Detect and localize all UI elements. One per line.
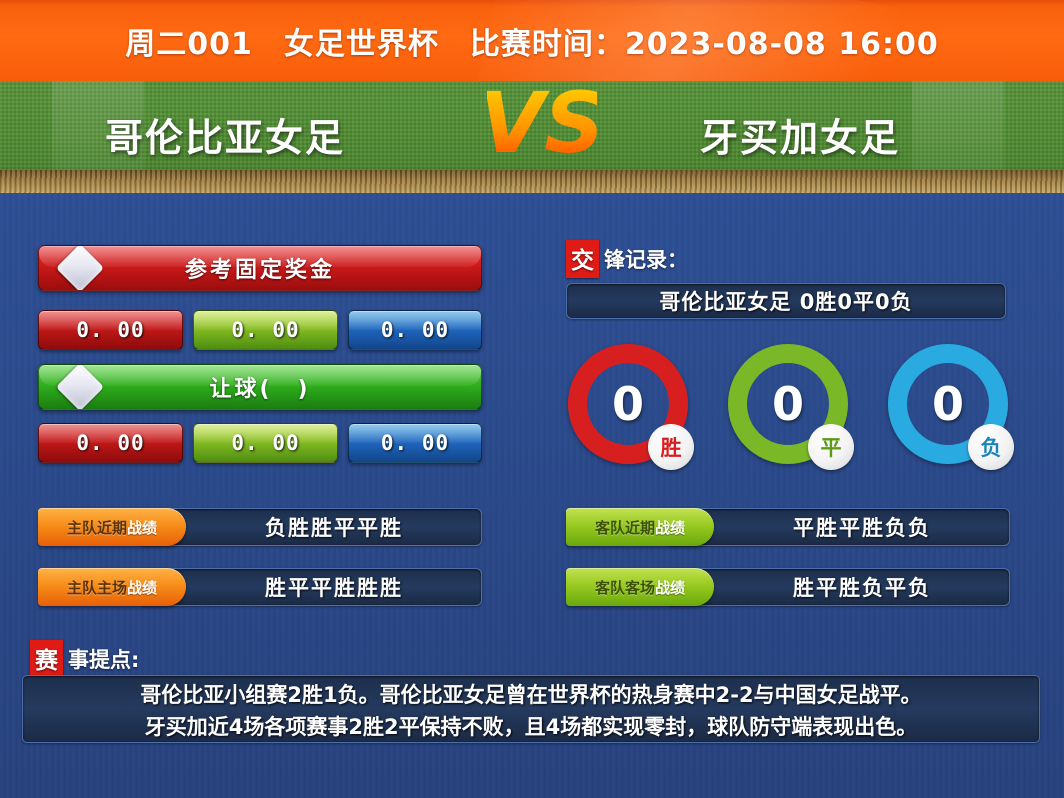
fixed-odds-home-button[interactable]: 0. 00 (38, 310, 183, 350)
handicap-odds-draw-value: 0. 00 (231, 431, 299, 455)
handicap-title: 让球( ) (209, 371, 310, 403)
away-venue-tag-dark: 客队客场 (595, 577, 655, 598)
away-venue-form-tag: 客队客场 战绩 (566, 568, 714, 606)
home-venue-form-tag: 主队主场 战绩 (38, 568, 186, 606)
home-recent-tag-dark: 主队近期 (67, 517, 127, 538)
h2h-heading-text: 锋记录： (604, 244, 688, 274)
match-tips-line-1: 哥伦比亚小组赛2胜1负。哥伦比亚女足曾在世界杯的热身赛中2-2与中国女足战平。 (140, 679, 921, 711)
away-recent-form-row: 平胜平胜负负 客队近期 战绩 (566, 508, 1010, 546)
handicap-title-bar: 让球( ) (38, 364, 482, 410)
head-to-head-summary: 哥伦比亚女足 0胜0平0负 (566, 283, 1006, 319)
home-venue-form-value: 胜平平胜胜胜 (138, 568, 482, 606)
handicap-odds-home-button[interactable]: 0. 00 (38, 423, 183, 463)
home-recent-form-value: 负胜胜平平胜 (138, 508, 482, 546)
handicap-odds-away-button[interactable]: 0. 00 (348, 423, 482, 463)
tips-badge-icon: 赛 (30, 640, 63, 678)
tips-heading-text: 事提点: (68, 644, 139, 674)
away-venue-form-row: 胜平胜负平负 客队客场 战绩 (566, 568, 1010, 606)
fixed-odds-title: 参考固定奖金 (185, 252, 335, 284)
handicap-odds-home-value: 0. 00 (76, 431, 144, 455)
away-recent-form-value: 平胜平胜负负 (666, 508, 1010, 546)
away-team-name: 牙买加女足 (700, 107, 900, 162)
fixed-odds-away-button[interactable]: 0. 00 (348, 310, 482, 350)
fixed-odds-title-bar: 参考固定奖金 (38, 245, 482, 291)
match-tips-heading: 赛 事提点: (30, 640, 139, 678)
match-tips-box: 哥伦比亚小组赛2胜1负。哥伦比亚女足曾在世界杯的热身赛中2-2与中国女足战平。 … (22, 675, 1040, 743)
away-venue-form-value: 胜平胜负平负 (666, 568, 1010, 606)
home-venue-form-row: 胜平平胜胜胜 主队主场 战绩 (38, 568, 482, 606)
match-tips-line-2: 牙买加近4场各项赛事2胜2平保持不败，且4场都实现零封，球队防守端表现出色。 (145, 711, 917, 743)
h2h-win-ring: 0 胜 (568, 344, 688, 464)
pitch-banner: 哥伦比亚女足 VS 牙买加女足 (0, 81, 1064, 193)
away-venue-tag-lite: 战绩 (655, 577, 685, 598)
home-recent-form-tag: 主队近期 战绩 (38, 508, 186, 546)
fixed-odds-away-value: 0. 00 (381, 318, 449, 342)
away-recent-tag-dark: 客队近期 (595, 517, 655, 538)
home-venue-tag-lite: 战绩 (127, 577, 157, 598)
fixed-odds-draw-value: 0. 00 (231, 318, 299, 342)
fixed-odds-draw-button[interactable]: 0. 00 (193, 310, 338, 350)
diamond-gem-icon (56, 364, 104, 410)
h2h-draw-label: 平 (808, 424, 854, 470)
home-recent-tag-lite: 战绩 (127, 517, 157, 538)
h2h-win-label: 胜 (648, 424, 694, 470)
handicap-odds-away-value: 0. 00 (381, 431, 449, 455)
away-recent-tag-lite: 战绩 (655, 517, 685, 538)
away-recent-form-tag: 客队近期 战绩 (566, 508, 714, 546)
page-title: 周二001 女足世界杯 比赛时间：2023-08-08 16:00 (125, 19, 938, 63)
diamond-gem-icon (56, 245, 104, 291)
h2h-badge-icon: 交 (566, 240, 599, 278)
h2h-lose-label: 负 (968, 424, 1014, 470)
match-header-bar: 周二001 女足世界杯 比赛时间：2023-08-08 16:00 (0, 0, 1064, 81)
home-recent-form-row: 负胜胜平平胜 主队近期 战绩 (38, 508, 482, 546)
home-venue-tag-dark: 主队主场 (67, 577, 127, 598)
h2h-draw-ring: 0 平 (728, 344, 848, 464)
h2h-lose-ring: 0 负 (888, 344, 1008, 464)
head-to-head-heading: 交 锋记录： (566, 240, 688, 278)
pitch-dirt-strip (0, 170, 1064, 193)
handicap-odds-draw-button[interactable]: 0. 00 (193, 423, 338, 463)
fixed-odds-home-value: 0. 00 (76, 318, 144, 342)
home-team-name: 哥伦比亚女足 (105, 107, 345, 162)
